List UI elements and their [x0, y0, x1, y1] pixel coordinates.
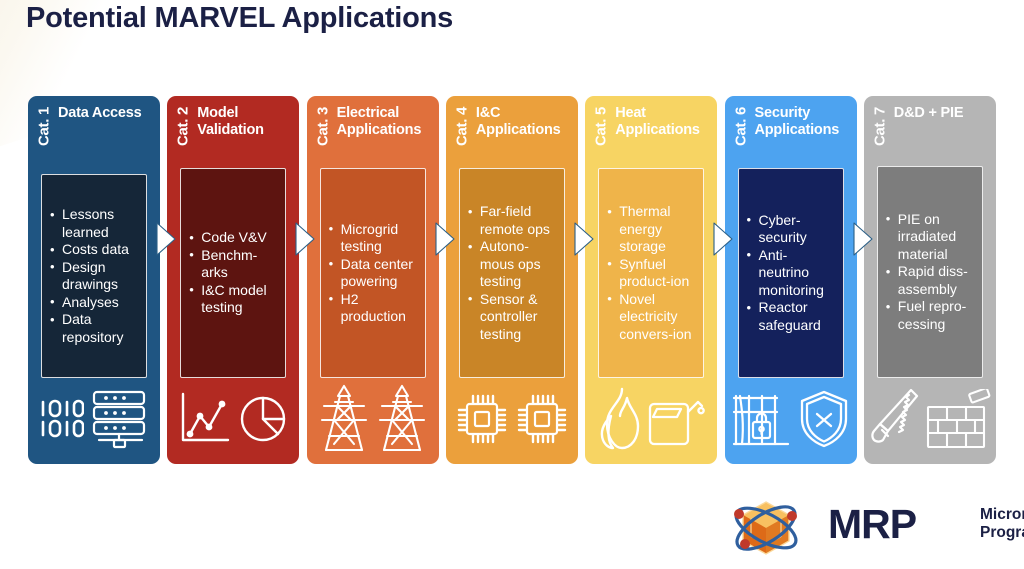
- bullet-item: Far-field remote ops: [466, 203, 558, 238]
- column-header: Cat. 3Electrical Applications: [307, 96, 439, 170]
- category-number-label: Cat. 2: [175, 99, 192, 155]
- power-tower-icon: [376, 384, 428, 454]
- category-number-label: Cat. 3: [314, 99, 331, 155]
- column-header: Cat. 5Heat Applications: [585, 96, 717, 170]
- bullet-item: Costs data: [48, 241, 140, 259]
- bullet-item: Design drawings: [48, 259, 140, 294]
- column-header: Cat. 6Security Applications: [725, 96, 857, 170]
- column-header: Cat. 7D&D + PIE: [864, 96, 996, 170]
- category-column-1[interactable]: Cat. 1Data AccessLessons learnedCosts da…: [28, 96, 160, 464]
- column-title: Data Access: [58, 105, 156, 122]
- mrp-atom-hexagon-icon: [710, 492, 822, 564]
- icon-strip: [307, 380, 439, 458]
- category-column-7[interactable]: Cat. 7D&D + PIEPIE on irradiated materia…: [864, 96, 996, 464]
- microchip-icon: [515, 392, 569, 446]
- bullet-box: Microgrid testingData center poweringH2 …: [320, 168, 426, 378]
- category-number-label: Cat. 1: [36, 99, 53, 155]
- logo-subtitle: Microreactor Program: [980, 506, 1024, 542]
- bullet-item: H2 production: [327, 291, 419, 326]
- category-column-2[interactable]: Cat. 2Model ValidationCode V&VBenchm-ark…: [167, 96, 299, 464]
- bullet-item: Benchm-arks: [187, 247, 279, 282]
- fuel-can-icon: [648, 390, 706, 448]
- logo-subtitle-line2: Program: [980, 524, 1024, 542]
- bullet-box: Cyber-securityAnti-neutrino monitoringRe…: [738, 168, 844, 378]
- category-number-label: Cat. 4: [453, 99, 470, 155]
- bullet-item: Analyses: [48, 294, 140, 312]
- bullet-item: Autono-mous ops testing: [466, 238, 558, 291]
- bullet-box: Thermal energy storageSynfuel product-io…: [598, 168, 704, 378]
- pie-chart-icon: [238, 394, 288, 444]
- column-title: D&D + PIE: [894, 105, 992, 122]
- category-flow-diagram: Cat. 1Data AccessLessons learnedCosts da…: [28, 96, 996, 464]
- server-rack-icon: [90, 389, 150, 449]
- column-header: Cat. 2Model Validation: [167, 96, 299, 170]
- line-chart-icon: [178, 390, 232, 448]
- bullet-box: Code V&VBenchm-arksI&C model testing: [180, 168, 286, 378]
- bullet-box: PIE on irradiated materialRapid diss-ass…: [877, 166, 983, 378]
- flame-icon: [596, 386, 642, 452]
- brick-wall-icon: [926, 389, 992, 449]
- category-column-3[interactable]: Cat. 3Electrical ApplicationsMicrogrid t…: [307, 96, 439, 464]
- power-tower-icon: [318, 384, 370, 454]
- icon-strip: [864, 380, 996, 458]
- bullet-item: Rapid diss-assembly: [884, 263, 976, 298]
- column-header: Cat. 1Data Access: [28, 96, 160, 170]
- bullet-list: Cyber-securityAnti-neutrino monitoringRe…: [745, 212, 837, 335]
- bullet-item: Synfuel product-ion: [605, 256, 697, 291]
- bullet-item: Anti-neutrino monitoring: [745, 247, 837, 300]
- bullet-item: PIE on irradiated material: [884, 211, 976, 264]
- bullet-item: Thermal energy storage: [605, 203, 697, 256]
- category-number-label: Cat. 6: [732, 99, 749, 155]
- bullet-item: Data repository: [48, 311, 140, 346]
- icon-strip: [446, 380, 578, 458]
- category-number-label: Cat. 5: [593, 99, 610, 155]
- binary-digits-icon: [38, 397, 84, 441]
- bullet-item: Data center powering: [327, 256, 419, 291]
- bullet-list: Microgrid testingData center poweringH2 …: [327, 221, 419, 326]
- bullet-item: Sensor & controller testing: [466, 291, 558, 344]
- bullet-list: PIE on irradiated materialRapid diss-ass…: [884, 211, 976, 334]
- column-title: Heat Applications: [615, 105, 713, 138]
- bullet-list: Lessons learnedCosts dataDesign drawings…: [48, 206, 140, 346]
- icon-strip: [167, 380, 299, 458]
- shield-x-icon: [797, 389, 851, 449]
- icon-strip: [28, 380, 160, 458]
- column-title: Security Applications: [755, 105, 853, 138]
- bullet-list: Far-field remote opsAutono-mous ops test…: [466, 203, 558, 343]
- bullet-list: Thermal energy storageSynfuel product-io…: [605, 203, 697, 343]
- handsaw-icon: [868, 386, 920, 452]
- logo-wordmark: MRP: [828, 501, 916, 548]
- bullet-item: Reactor safeguard: [745, 299, 837, 334]
- bullet-item: Cyber-security: [745, 212, 837, 247]
- bullet-item: Microgrid testing: [327, 221, 419, 256]
- category-column-5[interactable]: Cat. 5Heat ApplicationsThermal energy st…: [585, 96, 717, 464]
- column-header: Cat. 4I&C Applications: [446, 96, 578, 170]
- logo-subtitle-line1: Microreactor: [980, 506, 1024, 524]
- bullet-item: I&C model testing: [187, 282, 279, 317]
- category-column-6[interactable]: Cat. 6Security ApplicationsCyber-securit…: [725, 96, 857, 464]
- bullet-item: Fuel repro-cessing: [884, 298, 976, 333]
- bullet-box: Far-field remote opsAutono-mous ops test…: [459, 168, 565, 378]
- bullet-list: Code V&VBenchm-arksI&C model testing: [187, 229, 279, 317]
- icon-strip: [725, 380, 857, 458]
- icon-strip: [585, 380, 717, 458]
- category-number-label: Cat. 7: [871, 99, 888, 155]
- column-title: Electrical Applications: [337, 105, 435, 138]
- bullet-box: Lessons learnedCosts dataDesign drawings…: [41, 174, 147, 378]
- page-title: Potential MARVEL Applications: [26, 2, 453, 35]
- bullet-item: Novel electricity convers-ion: [605, 291, 697, 344]
- security-gate-lock-icon: [731, 390, 791, 448]
- column-title: I&C Applications: [476, 105, 574, 138]
- column-title: Model Validation: [197, 105, 295, 138]
- bullet-item: Code V&V: [187, 229, 279, 247]
- microchip-icon: [455, 392, 509, 446]
- mrp-logo: MRP Microreactor Program: [710, 492, 1010, 564]
- category-column-4[interactable]: Cat. 4I&C ApplicationsFar-field remote o…: [446, 96, 578, 464]
- bullet-item: Lessons learned: [48, 206, 140, 241]
